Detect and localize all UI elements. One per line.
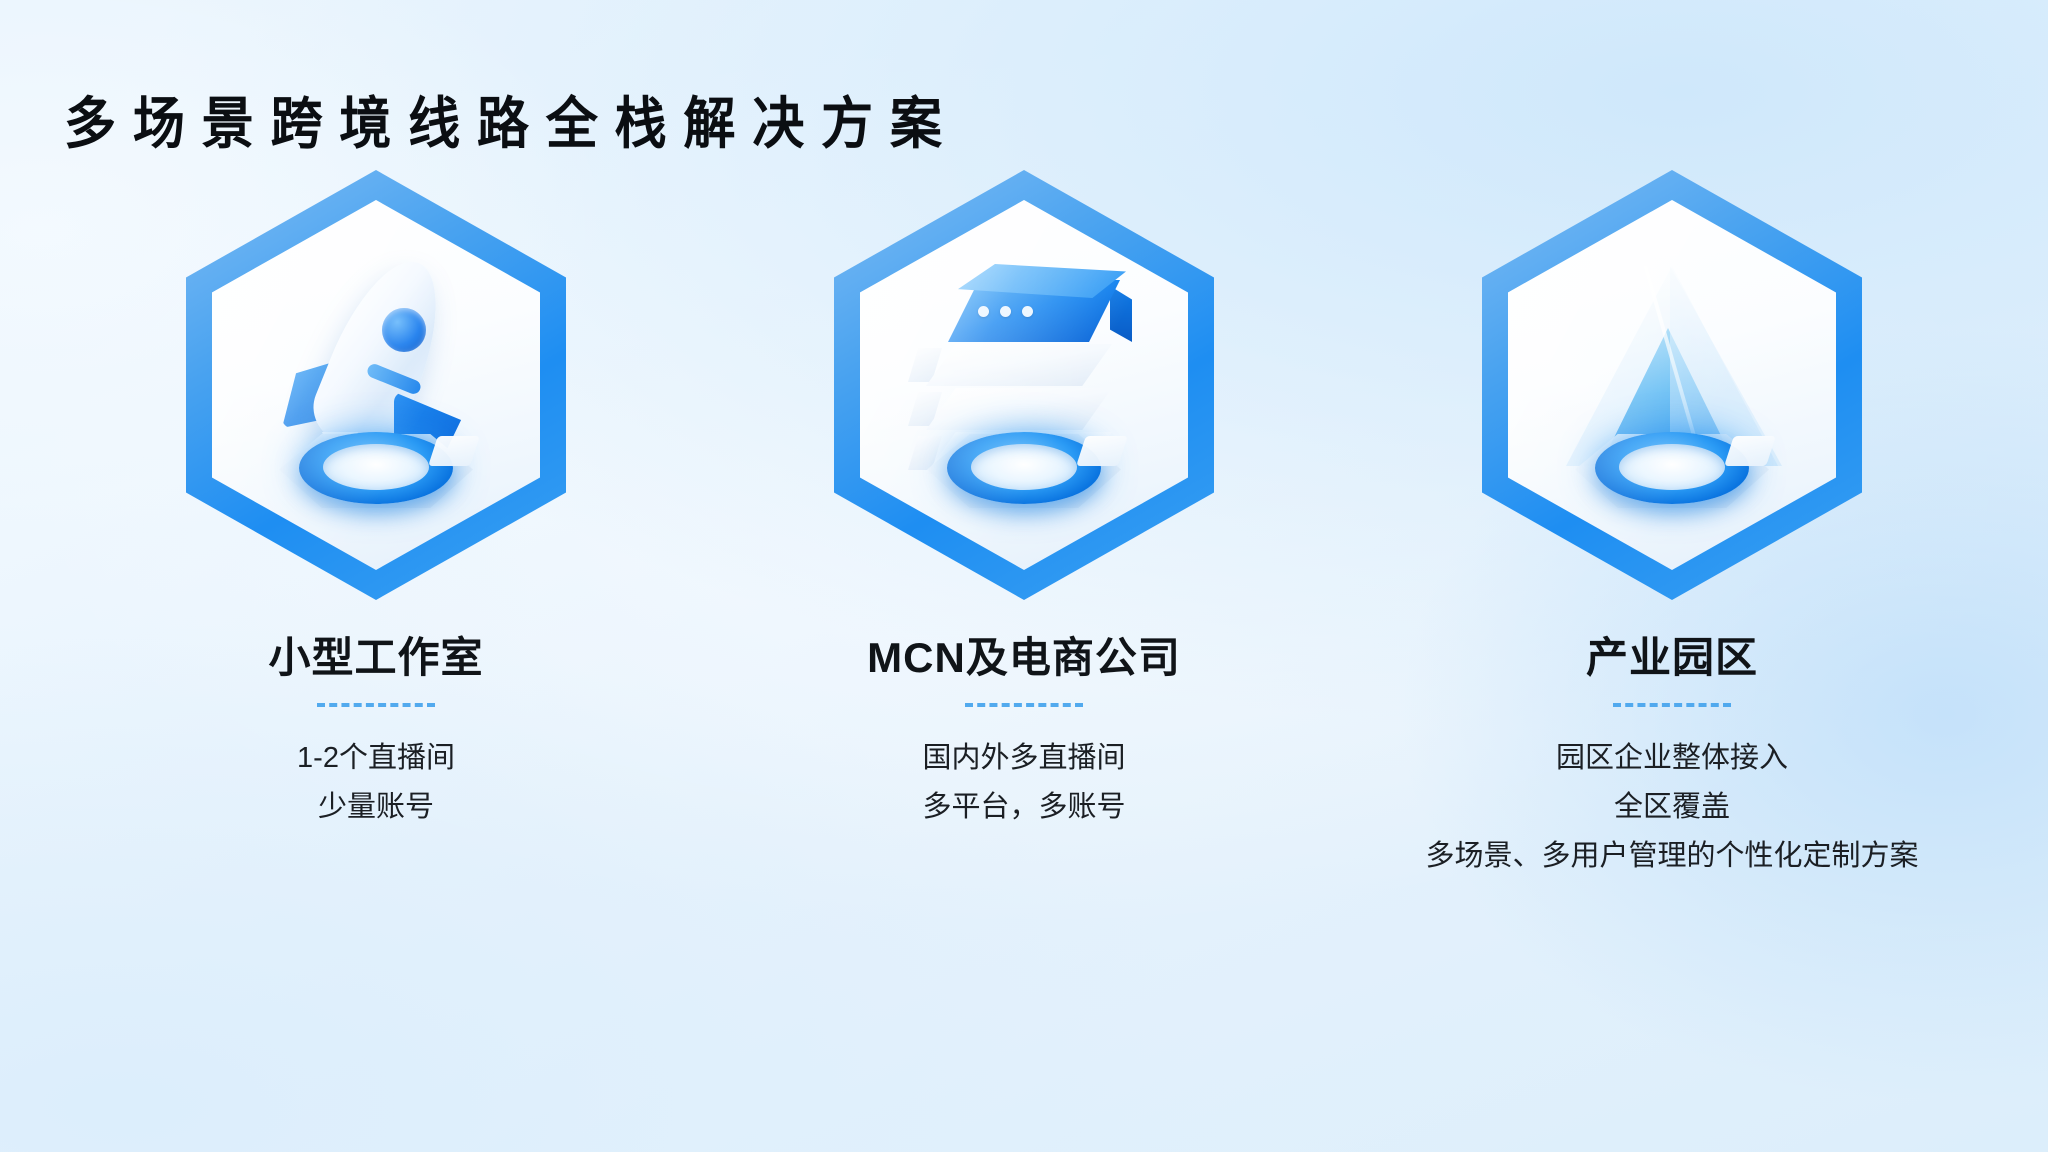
card-title: MCN及电商公司 — [867, 624, 1181, 685]
card-description-line: 全区覆盖 — [1425, 784, 1918, 831]
hexagon-badge-mcn — [834, 170, 1214, 600]
ring-hole-icon — [1619, 444, 1725, 490]
ring-hole-icon — [971, 444, 1077, 490]
scenario-card-row: 小型工作室 1-2个直播间 少量账号 — [0, 170, 2048, 882]
card-description-line: 国内外多直播间 — [922, 735, 1125, 782]
rocket-icon — [226, 236, 526, 536]
server-stack-icon — [874, 236, 1174, 536]
ring-notch-icon — [1076, 436, 1128, 466]
card-description-line: 园区企业整体接入 — [1425, 735, 1918, 782]
card-description-line: 多平台，多账号 — [922, 784, 1125, 831]
scenario-card-studio[interactable]: 小型工作室 1-2个直播间 少量账号 — [116, 170, 636, 882]
card-title: 小型工作室 — [268, 624, 483, 685]
server-dot-icon — [1000, 306, 1011, 317]
card-divider — [965, 703, 1083, 707]
card-title: 产业园区 — [1586, 624, 1758, 685]
card-divider — [317, 703, 435, 707]
hexagon-badge-industrial-park — [1482, 170, 1862, 600]
server-status-dots-icon — [978, 306, 1033, 317]
scenario-card-mcn[interactable]: MCN及电商公司 国内外多直播间 多平台，多账号 — [764, 170, 1284, 882]
pyramid-icon — [1522, 236, 1822, 536]
ring-notch-icon — [428, 436, 480, 466]
server-dot-icon — [1022, 306, 1033, 317]
card-description-line: 少量账号 — [297, 784, 455, 831]
server-dot-icon — [978, 306, 989, 317]
glow-ring-base-icon — [271, 416, 481, 512]
page-title: 多场景跨境线路全栈解决方案 — [64, 92, 959, 156]
glow-ring-base-icon — [919, 416, 1129, 512]
card-description-line: 1-2个直播间 — [297, 735, 455, 782]
rocket-window-icon — [382, 308, 426, 352]
ring-hole-icon — [323, 444, 429, 490]
scenario-card-industrial-park[interactable]: 产业园区 园区企业整体接入 全区覆盖 多场景、多用户管理的个性化定制方案 — [1412, 170, 1932, 882]
card-description: 1-2个直播间 少量账号 — [297, 733, 455, 833]
card-description-line: 多场景、多用户管理的个性化定制方案 — [1425, 833, 1918, 880]
ring-notch-icon — [1724, 436, 1776, 466]
card-description: 国内外多直播间 多平台，多账号 — [922, 733, 1125, 833]
card-description: 园区企业整体接入 全区覆盖 多场景、多用户管理的个性化定制方案 — [1425, 733, 1918, 882]
hexagon-badge-studio — [186, 170, 566, 600]
server-side-edge-icon — [1110, 286, 1132, 342]
server-slab-icon — [926, 344, 1112, 386]
glow-ring-base-icon — [1567, 416, 1777, 512]
card-divider — [1613, 703, 1731, 707]
